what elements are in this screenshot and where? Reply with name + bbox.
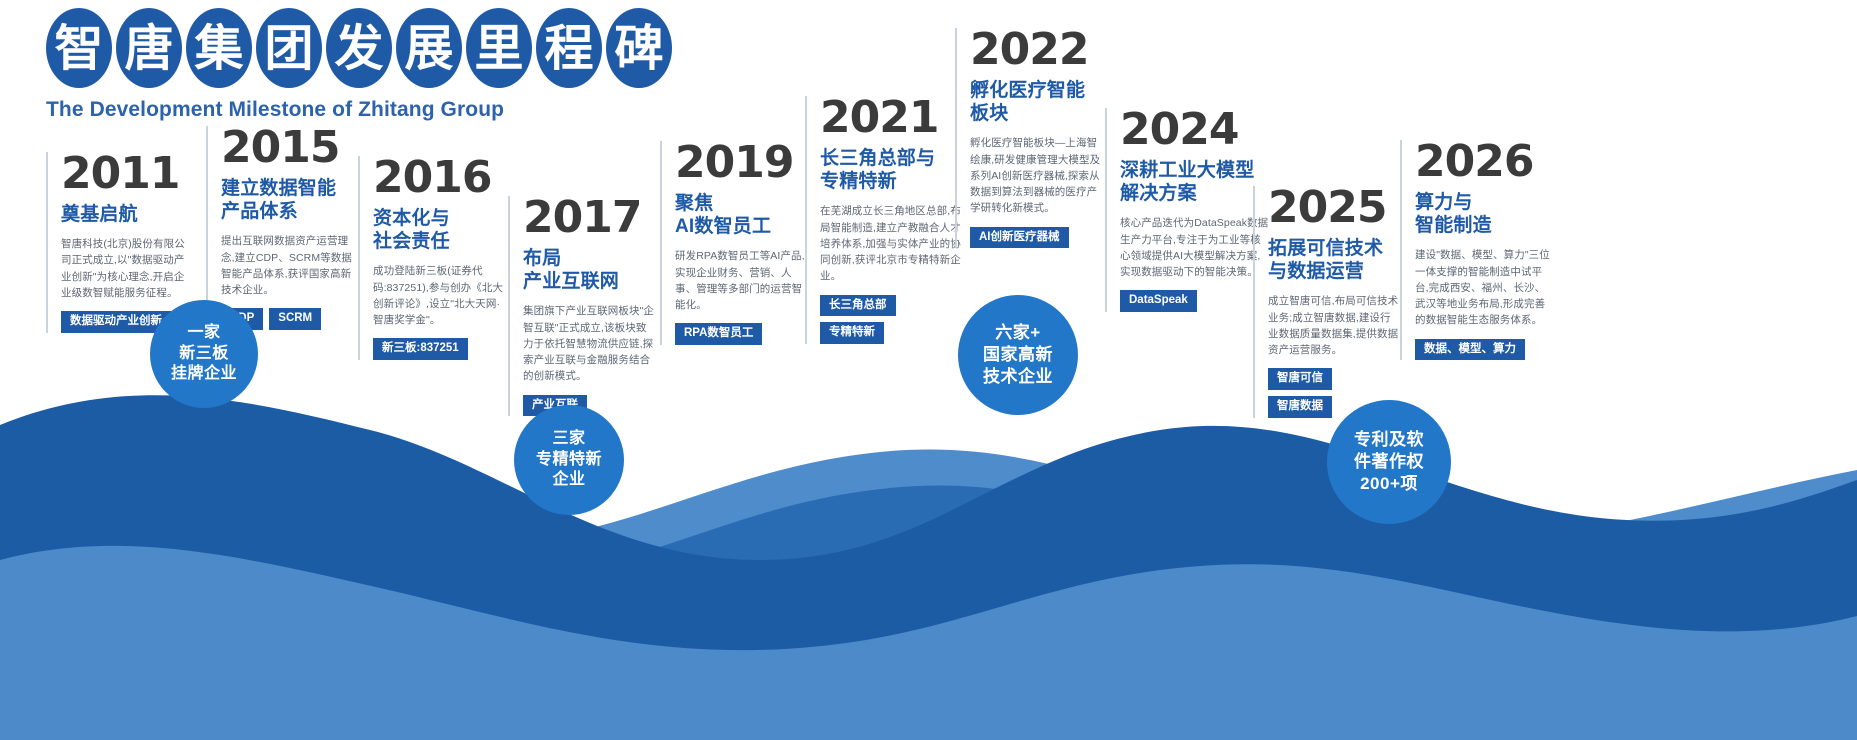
title-char: 集 [186, 8, 252, 88]
milestone-2026: 2026 算力与 智能制造 建设"数据、模型、算力"三位一体支撑的智能制造中试平… [1400, 140, 1550, 360]
title-char: 展 [396, 8, 462, 88]
milestone-year: 2019 [675, 141, 808, 185]
badge-zhuanjingtexin: 三家 专精特新 企业 [514, 405, 624, 515]
milestone-2024: 2024 深耕工业大模型 解决方案 核心产品迭代为DataSpeak数据生产力平… [1105, 108, 1270, 312]
tag[interactable]: 数据、模型、算力 [1415, 339, 1525, 361]
milestone-heading: 布局 产业互联网 [523, 247, 656, 293]
milestone-infographic: 智 唐 集 团 发 展 里 程 碑 The Development Milest… [0, 0, 1857, 740]
milestone-year: 2026 [1415, 140, 1550, 184]
tag[interactable]: 智唐数据 [1268, 396, 1332, 418]
milestone-year: 2022 [970, 28, 1107, 72]
page-title: 智 唐 集 团 发 展 里 程 碑 [46, 8, 672, 88]
milestone-year: 2015 [221, 126, 354, 170]
milestone-desc: 智唐科技(北京)股份有限公司正式成立,以"数据驱动产业创新"为核心理念,开启企业… [61, 236, 194, 301]
title-char: 发 [326, 8, 392, 88]
tag[interactable]: 专精特新 [820, 322, 884, 344]
milestone-heading: 拓展可信技术 与数据运营 [1268, 237, 1401, 283]
page-subtitle: The Development Milestone of Zhitang Gro… [46, 98, 672, 122]
milestone-tags: 数据、模型、算力 [1415, 339, 1550, 361]
milestone-tags: 长三角总部 专精特新 [820, 295, 965, 344]
milestone-2011: 2011 奠基启航 智唐科技(北京)股份有限公司正式成立,以"数据驱动产业创新"… [46, 152, 194, 333]
milestone-2021: 2021 长三角总部与 专精特新 在芜湖成立长三角地区总部,布局智能制造,建立产… [805, 96, 965, 344]
milestone-heading: 长三角总部与 专精特新 [820, 147, 965, 193]
milestone-2015: 2015 建立数据智能 产品体系 提出互联网数据资产运营理念,建立CDP、SCR… [206, 126, 354, 330]
badge-text: 六家+ 国家高新 技术企业 [983, 322, 1053, 388]
tag[interactable]: 智唐可信 [1268, 368, 1332, 390]
milestone-heading: 算力与 智能制造 [1415, 191, 1550, 237]
milestone-desc: 提出互联网数据资产运营理念,建立CDP、SCRM等数据智能产品体系,获评国家高新… [221, 233, 354, 298]
milestone-tags: AI创新医疗器械 [970, 227, 1107, 249]
milestone-heading: 聚焦 AI数智员工 [675, 192, 808, 238]
title-char: 里 [466, 8, 532, 88]
milestone-2016: 2016 资本化与 社会责任 成功登陆新三板(证券代码:837251),参与创办… [358, 156, 506, 360]
milestone-tags: DataSpeak [1120, 290, 1270, 312]
tag[interactable]: AI创新医疗器械 [970, 227, 1069, 249]
milestone-tags: RPA数智员工 [675, 323, 808, 345]
milestone-desc: 建设"数据、模型、算力"三位一体支撑的智能制造中试平台,完成西安、福州、长沙、武… [1415, 247, 1550, 328]
tag[interactable]: RPA数智员工 [675, 323, 762, 345]
badge-xinsanban: 一家 新三板 挂牌企业 [150, 300, 258, 408]
milestone-desc: 成立智唐可信,布局可信技术业务;成立智唐数据,建设行业数据质量数据集,提供数据资… [1268, 293, 1401, 358]
milestone-desc: 成功登陆新三板(证券代码:837251),参与创办《北大创新评论》,设立"北大天… [373, 263, 506, 328]
badge-text: 一家 新三板 挂牌企业 [171, 323, 237, 385]
badge-patents: 专利及软 件著作权 200+项 [1327, 400, 1451, 524]
milestone-desc: 集团旗下产业互联网板块"企智互联"正式成立,该板块致力于依托智慧物流供应链,探索… [523, 303, 656, 384]
title-char: 程 [536, 8, 602, 88]
milestone-desc: 在芜湖成立长三角地区总部,布局智能制造,建立产教融合人才培养体系,加强与实体产业… [820, 203, 965, 284]
milestone-heading: 孵化医疗智能 板块 [970, 79, 1107, 125]
milestone-desc: 研发RPA数智员工等AI产品,实现企业财务、营销、人事、管理等多部门的运营智能化… [675, 248, 808, 313]
badge-text: 三家 专精特新 企业 [536, 429, 602, 491]
header: 智 唐 集 团 发 展 里 程 碑 The Development Milest… [46, 8, 672, 122]
milestone-2017: 2017 布局 产业互联网 集团旗下产业互联网板块"企智互联"正式成立,该板块致… [508, 196, 656, 416]
milestone-heading: 资本化与 社会责任 [373, 207, 506, 253]
tag[interactable]: DataSpeak [1120, 290, 1197, 312]
milestone-heading: 深耕工业大模型 解决方案 [1120, 159, 1270, 205]
milestone-2025: 2025 拓展可信技术 与数据运营 成立智唐可信,布局可信技术业务;成立智唐数据… [1253, 186, 1401, 418]
milestone-2022: 2022 孵化医疗智能 板块 孵化医疗智能板块—上海智绘康,研发健康管理大模型及… [955, 28, 1107, 248]
tag[interactable]: SCRM [269, 308, 321, 330]
milestone-desc: 核心产品迭代为DataSpeak数据生产力平台,专注于为工业等核心领域提供AI大… [1120, 215, 1270, 280]
title-char: 智 [46, 8, 112, 88]
milestone-year: 2016 [373, 156, 506, 200]
milestone-year: 2024 [1120, 108, 1270, 152]
title-char: 唐 [116, 8, 182, 88]
badge-text: 专利及软 件著作权 200+项 [1354, 429, 1424, 495]
badge-gaoxin: 六家+ 国家高新 技术企业 [958, 295, 1078, 415]
milestone-heading: 奠基启航 [61, 203, 194, 226]
milestone-year: 2017 [523, 196, 656, 240]
title-char: 碑 [606, 8, 672, 88]
milestone-heading: 建立数据智能 产品体系 [221, 177, 354, 223]
milestone-desc: 孵化医疗智能板块—上海智绘康,研发健康管理大模型及系列AI创新医疗器械,探索从数… [970, 135, 1107, 216]
title-char: 团 [256, 8, 322, 88]
milestone-year: 2021 [820, 96, 965, 140]
tag[interactable]: 长三角总部 [820, 295, 896, 317]
milestone-year: 2025 [1268, 186, 1401, 230]
tag[interactable]: 新三板:837251 [373, 338, 468, 360]
milestone-tags: 新三板:837251 [373, 338, 506, 360]
milestone-year: 2011 [61, 152, 194, 196]
milestone-2019: 2019 聚焦 AI数智员工 研发RPA数智员工等AI产品,实现企业财务、营销、… [660, 141, 808, 345]
